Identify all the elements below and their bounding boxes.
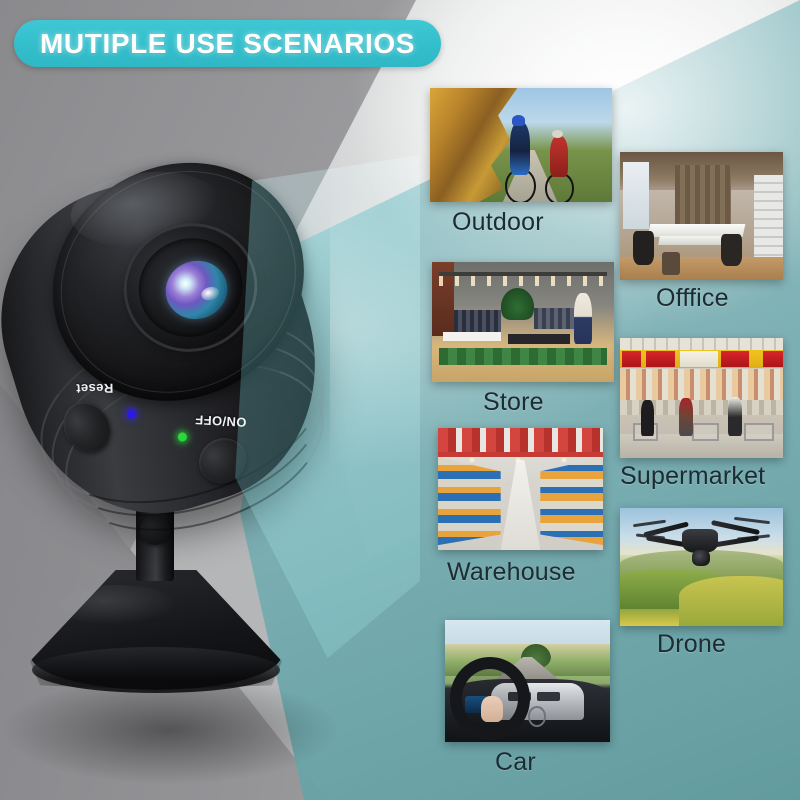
- scenario-thumb-supermarket[interactable]: [620, 338, 783, 458]
- car-scene-art: [445, 620, 610, 742]
- scenario-caption-supermarket: Supermarket: [620, 462, 765, 491]
- warehouse-scene-art: [438, 428, 603, 550]
- scenario-caption-store: Store: [483, 388, 544, 417]
- camera-lens-glass: [158, 253, 234, 327]
- camera-base-lip: [32, 647, 280, 693]
- scenario-thumb-office[interactable]: [620, 152, 783, 280]
- header-badge: MUTIPLE USE SCENARIOS: [14, 20, 441, 67]
- scenario-thumb-drone[interactable]: [620, 508, 783, 626]
- camera-base-highlight: [58, 585, 178, 625]
- scenario-thumb-outdoor[interactable]: [430, 88, 612, 202]
- scenario-thumb-car[interactable]: [445, 620, 610, 742]
- scenario-caption-warehouse: Warehouse: [447, 558, 576, 587]
- store-scene-art: [432, 262, 614, 382]
- scenario-caption-office: Offfice: [656, 284, 729, 313]
- supermarket-scene-art: [620, 338, 783, 458]
- scenario-thumb-store[interactable]: [432, 262, 614, 382]
- reset-button-label: Reset: [76, 381, 114, 397]
- product-scenario-poster: MUTIPLE USE SCENARIOS: [0, 0, 800, 800]
- outdoor-scene-art: [430, 88, 612, 202]
- scenario-caption-car: Car: [495, 748, 536, 777]
- office-scene-art: [620, 152, 783, 280]
- drone-scene-art: [620, 508, 783, 626]
- header-badge-label: MUTIPLE USE SCENARIOS: [40, 28, 415, 60]
- mini-camera-product: Reset ON/OFF: [0, 155, 420, 800]
- lens-specular-highlight: [200, 285, 221, 303]
- scenario-caption-drone: Drone: [657, 630, 726, 659]
- camera-body: Reset ON/OFF: [0, 143, 352, 546]
- scenario-thumb-warehouse[interactable]: [438, 428, 603, 550]
- scenario-caption-outdoor: Outdoor: [452, 208, 544, 237]
- power-button-label: ON/OFF: [195, 412, 247, 430]
